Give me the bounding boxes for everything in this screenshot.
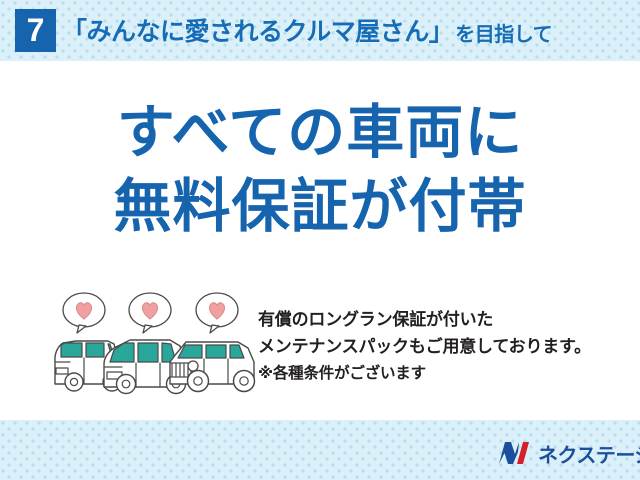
header-title: 「みんなに愛されるクルマ屋さん」 を目指して	[62, 12, 552, 48]
brand-logo: ネクステージ	[497, 438, 640, 468]
speech-bubble-1	[63, 293, 105, 333]
main-heading-line-1: すべての車両に	[0, 96, 640, 170]
car-suv	[170, 342, 255, 392]
speech-bubble-2	[129, 293, 171, 333]
brand-logo-text: ネクステージ	[538, 439, 640, 468]
cars-illustration	[52, 288, 262, 398]
body-copy: 有償のロングラン保証が付いた メンテナンスパックもご用意しております。 ※各種条…	[258, 306, 630, 387]
step-number-badge: 7	[15, 9, 56, 52]
nextage-n-logo-icon	[497, 440, 531, 466]
body-copy-line-2: メンテナンスパックもご用意しております。	[258, 333, 630, 360]
header-title-quoted: 「みんなに愛されるクルマ屋さん」	[62, 12, 453, 48]
header-title-suffix: を目指して	[453, 18, 552, 47]
speech-bubble-3	[196, 293, 238, 333]
main-heading-line-2: 無料保証が付帯	[0, 170, 640, 244]
body-copy-line-1: 有償のロングラン保証が付いた	[258, 306, 630, 333]
advertisement-slide: 7 「みんなに愛されるクルマ屋さん」 を目指して すべての車両に 無料保証が付帯	[0, 0, 640, 480]
body-copy-note: ※各種条件がございます	[258, 360, 630, 387]
main-heading: すべての車両に 無料保証が付帯	[0, 96, 640, 244]
